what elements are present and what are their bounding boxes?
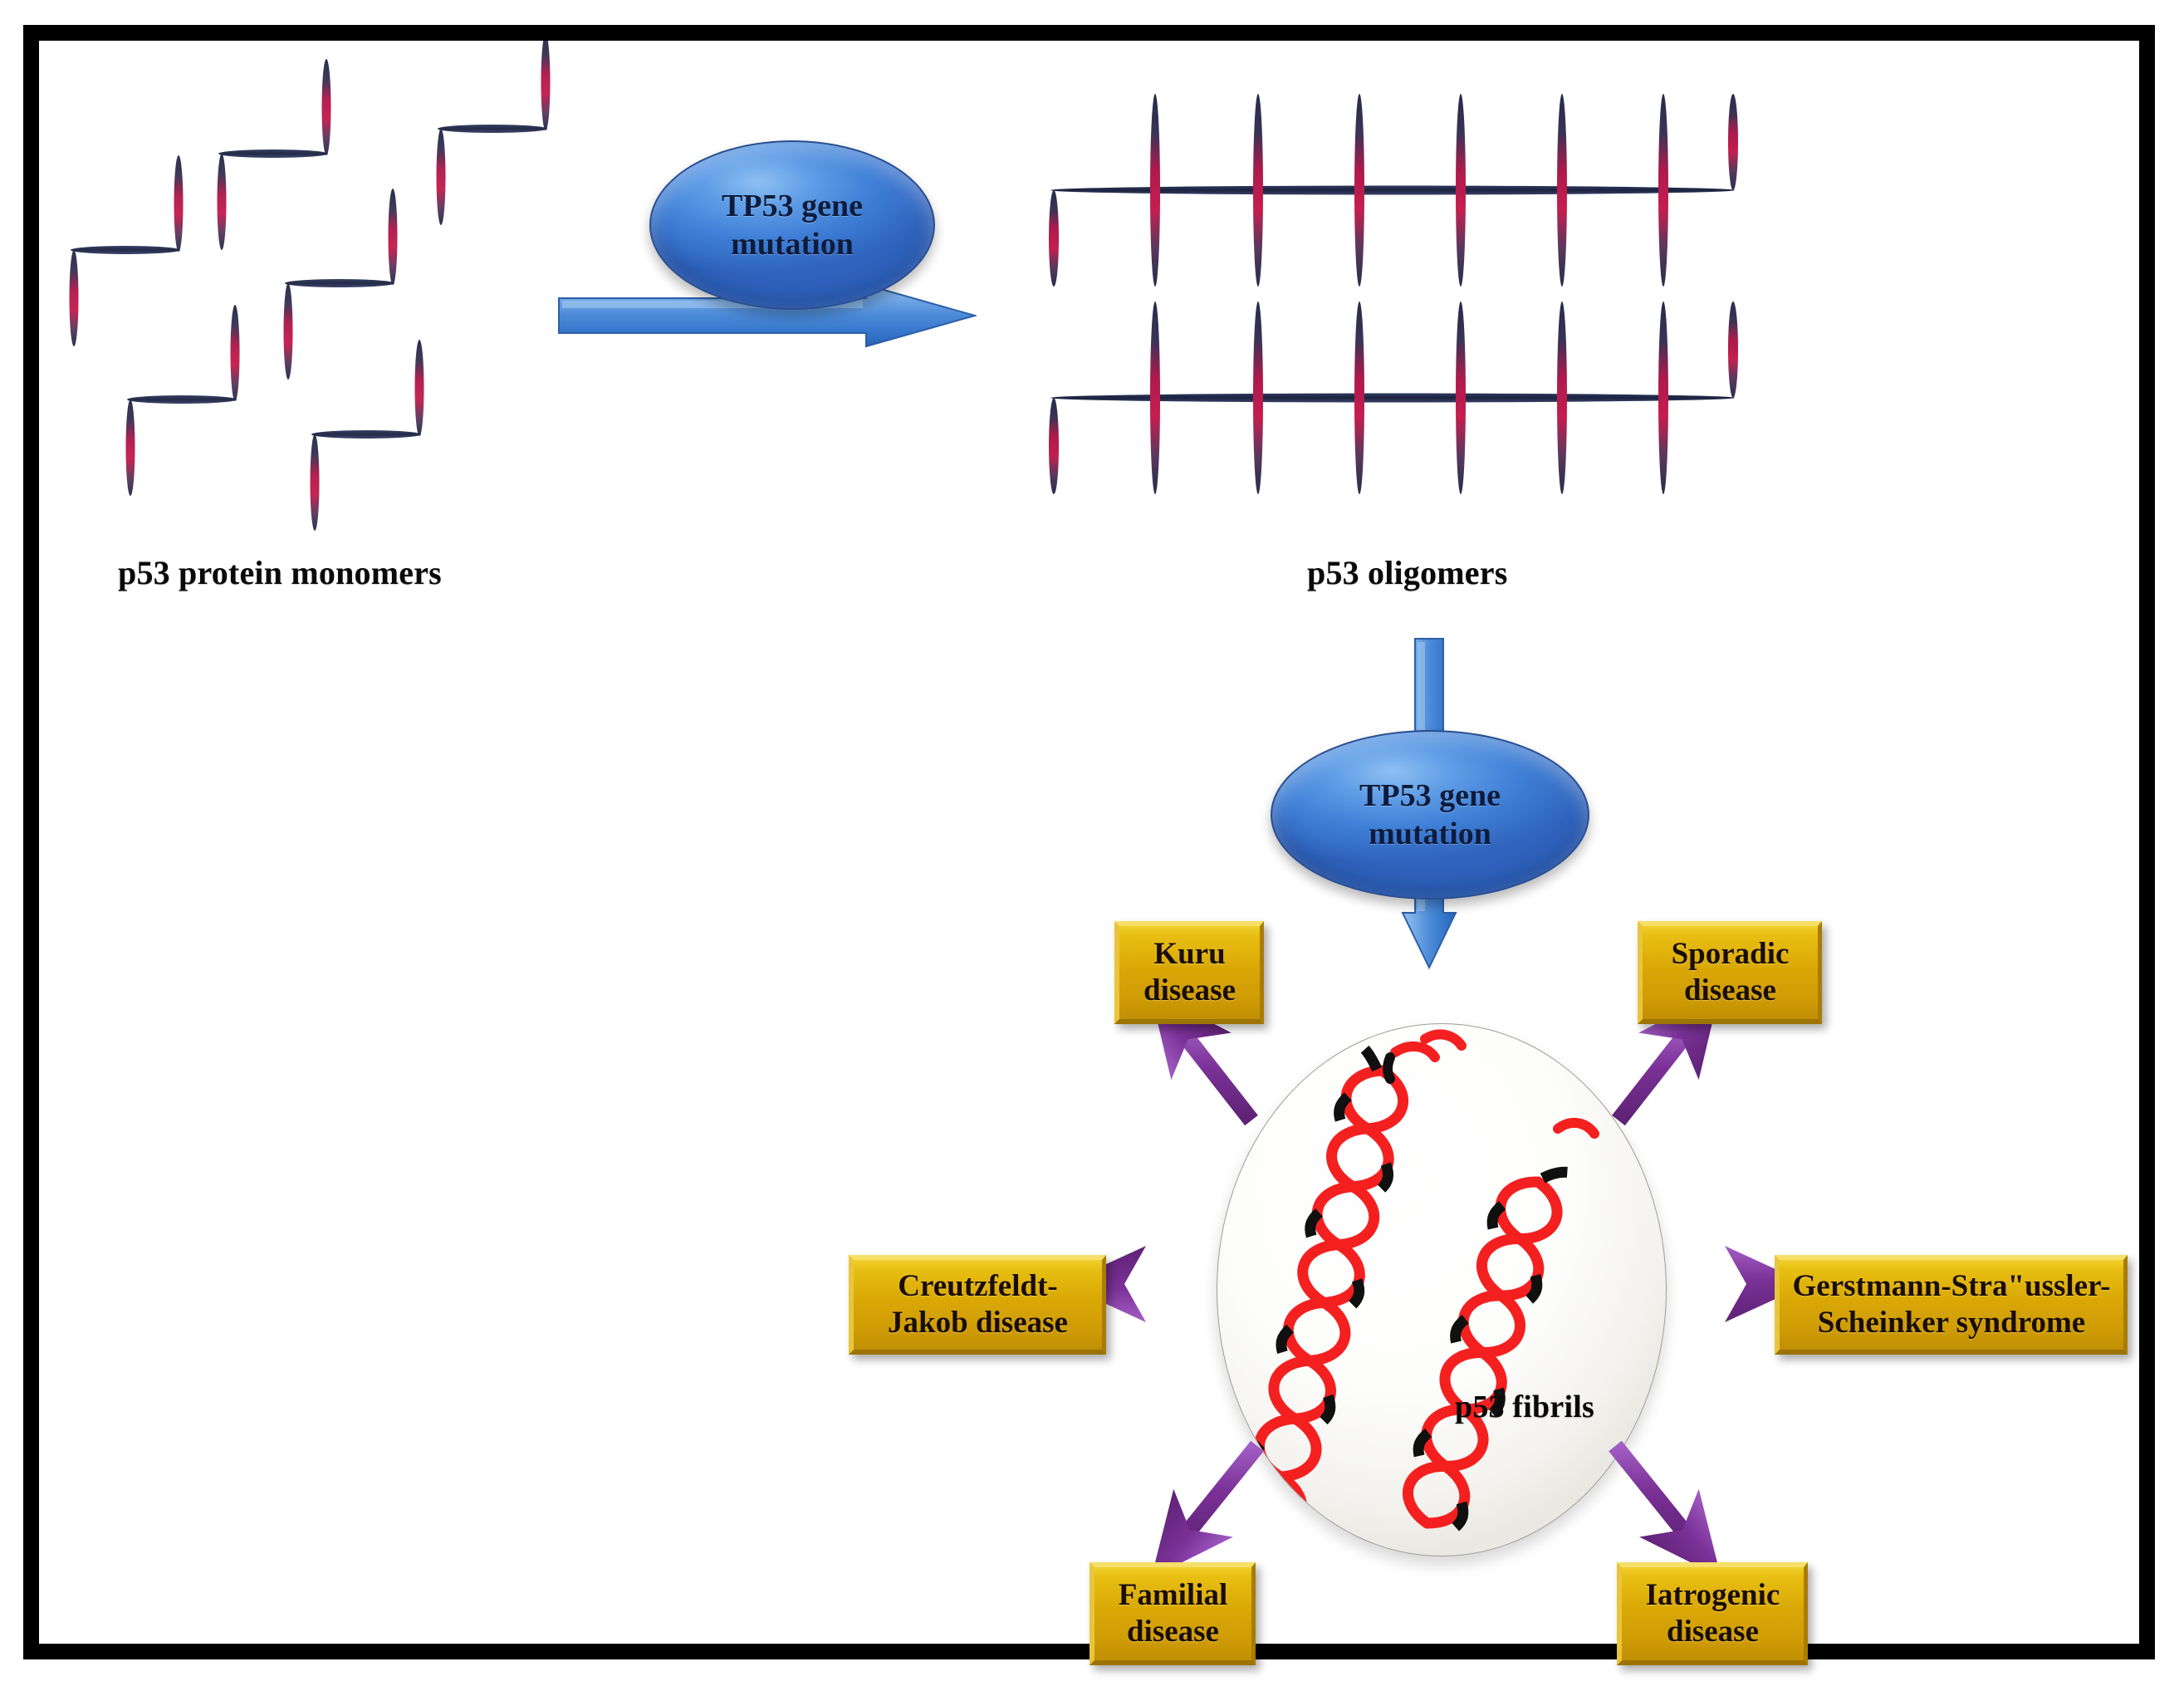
disease-box-iatrogenic[interactable]: Iatrogenic disease (1617, 1562, 1808, 1665)
disease-box-familial[interactable]: Familial disease (1090, 1562, 1256, 1665)
disease-box-sporadic[interactable]: Sporadic disease (1638, 921, 1822, 1024)
disease-line1: Sporadic (1672, 936, 1790, 973)
radial-arrow-layer (39, 41, 2139, 1644)
disease-line1: Iatrogenic (1646, 1577, 1780, 1614)
disease-box-gerstmann-straussler-scheinker[interactable]: Gerstmann-Stra"ussler- Scheinker syndrom… (1775, 1255, 2128, 1355)
disease-line1: Creutzfeldt- (888, 1268, 1068, 1305)
arrow-to-sporadic (1618, 1025, 1693, 1120)
diagram-frame: TP53 gene mutation p53 protein monomers … (23, 25, 2155, 1659)
disease-line2: disease (1672, 973, 1790, 1009)
disease-line2: Scheinker syndrome (1793, 1305, 2111, 1341)
disease-line1: Gerstmann-Stra"ussler- (1793, 1268, 2111, 1305)
disease-line1: Familial (1119, 1577, 1228, 1614)
disease-box-kuru[interactable]: Kuru disease (1114, 921, 1264, 1024)
arrow-to-kuru (1177, 1025, 1251, 1120)
disease-line2: disease (1646, 1614, 1780, 1650)
disease-line2: disease (1143, 973, 1236, 1009)
disease-line2: Jakob disease (888, 1305, 1068, 1341)
arrow-to-iatrogenic (1615, 1446, 1694, 1544)
disease-line2: disease (1119, 1614, 1228, 1650)
diagram-canvas: TP53 gene mutation p53 protein monomers … (39, 41, 2139, 1644)
fibrils-label: p53 fibrils (1455, 1389, 1594, 1425)
arrow-to-familial (1178, 1446, 1257, 1544)
disease-box-creutzfeldt-jakob[interactable]: Creutzfeldt- Jakob disease (849, 1255, 1106, 1355)
disease-line1: Kuru (1143, 936, 1236, 973)
